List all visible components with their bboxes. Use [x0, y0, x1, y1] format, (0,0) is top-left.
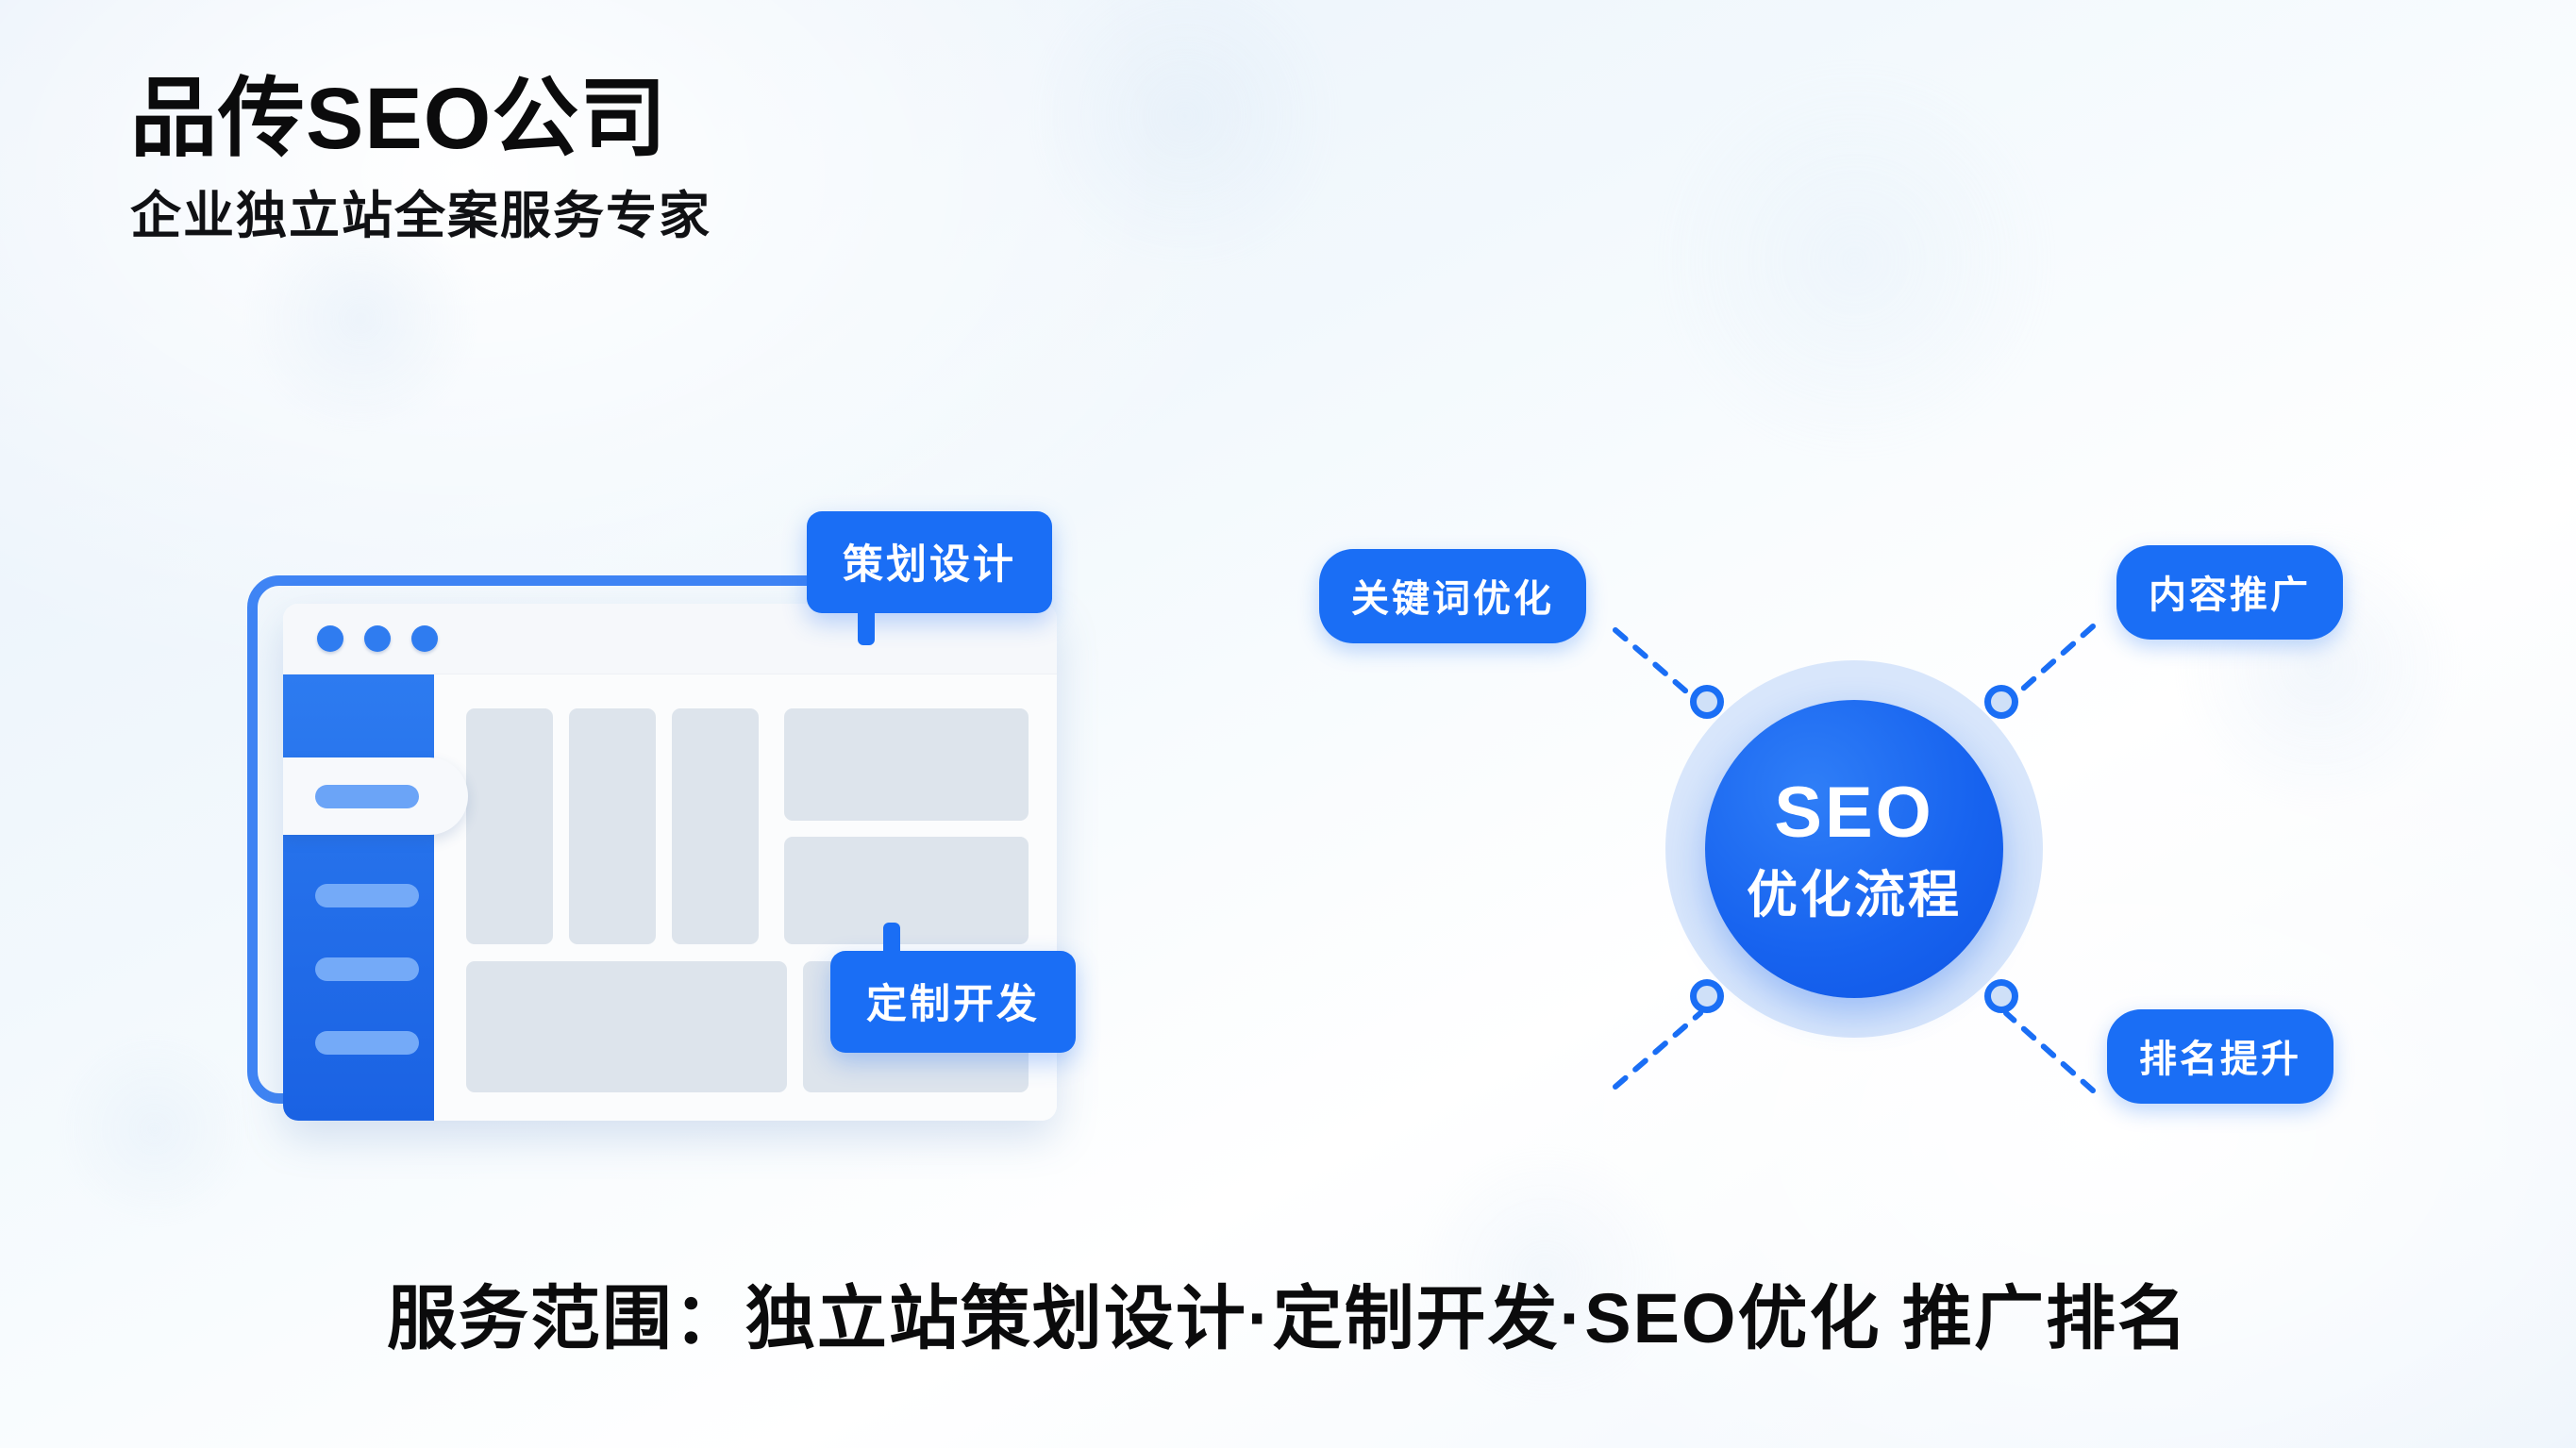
hub-node-dot-bottom-right	[1984, 979, 2018, 1013]
content-block-col-1	[466, 708, 553, 944]
content-block-right-bottom	[784, 837, 1029, 944]
window-dot-icon	[364, 625, 391, 652]
window-dot-icon	[317, 625, 343, 652]
sidebar-item-active[interactable]	[283, 757, 468, 835]
mockup-sidebar	[283, 674, 434, 1121]
headline-group: 品传SEO公司 企业独立站全案服务专家	[130, 74, 711, 245]
seo-hub-diagram: SEO 优化流程	[1665, 660, 2043, 1038]
hub-core-title: SEO	[1774, 777, 1934, 849]
content-block-col-2	[569, 708, 656, 944]
footer-service-scope: 服务范围：独立站策划设计·定制开发·SEO优化 推广排名	[0, 1262, 2576, 1363]
sidebar-item-1[interactable]	[315, 884, 419, 907]
content-block-right-top	[784, 708, 1029, 821]
browser-titlebar	[283, 604, 1057, 674]
hub-label-rank-improvement[interactable]: 排名提升	[2107, 1009, 2333, 1104]
mockup-content-area	[434, 674, 1057, 1121]
content-row-top	[466, 708, 1029, 944]
hub-node-dot-top-left	[1690, 685, 1724, 719]
hub-label-content-promotion[interactable]: 内容推广	[2116, 545, 2343, 640]
content-block-bottom-left	[466, 961, 787, 1092]
hub-core-subtitle: 优化流程	[1747, 870, 1962, 921]
tag-design[interactable]: 策划设计	[807, 511, 1052, 613]
sidebar-item-2[interactable]	[315, 957, 419, 981]
sidebar-item-bar	[315, 785, 419, 808]
content-right-stack	[784, 708, 1029, 944]
tag-dev[interactable]: 定制开发	[830, 951, 1076, 1053]
sidebar-item-3[interactable]	[315, 1031, 419, 1055]
hub-node-dot-top-right	[1984, 685, 2018, 719]
poster-stage: 品传SEO公司 企业独立站全案服务专家	[0, 0, 2576, 1448]
hub-node-dot-bottom-left	[1690, 979, 1724, 1013]
hub-core-circle: SEO 优化流程	[1705, 700, 2003, 998]
content-block-col-3	[672, 708, 759, 944]
browser-body	[283, 674, 1057, 1121]
page-title: 品传SEO公司	[130, 74, 711, 166]
hub-label-keyword-optimization[interactable]: 关键词优化	[1319, 549, 1586, 643]
window-dot-icon	[411, 625, 438, 652]
page-subtitle: 企业独立站全案服务专家	[130, 187, 711, 245]
